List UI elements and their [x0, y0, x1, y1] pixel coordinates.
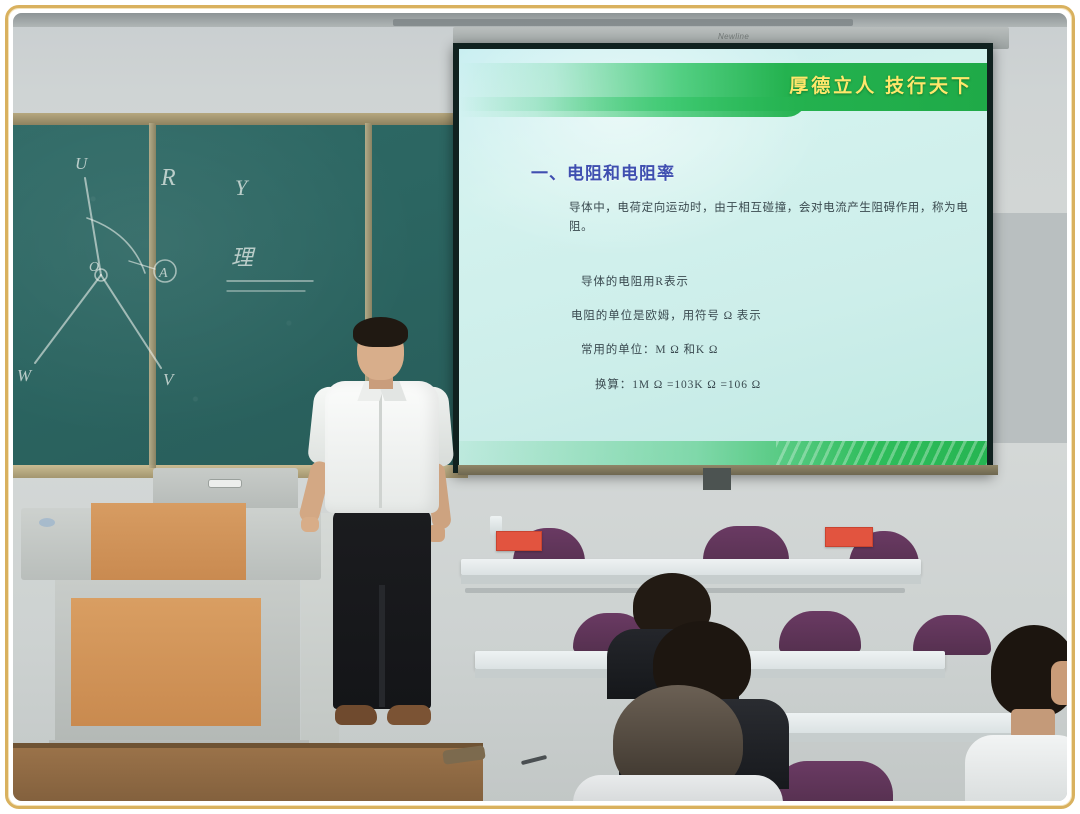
slide-bullet-3: 常用的单位：M Ω 和K Ω — [581, 341, 718, 357]
slide-footer-band — [459, 441, 987, 467]
chalk-label-y: Y — [235, 175, 250, 200]
projector-brand-label: Newline — [718, 32, 749, 41]
screen-stand — [703, 468, 731, 490]
teacher-left-hand — [301, 517, 319, 532]
podium-lower-wood-panel — [71, 598, 261, 726]
teacher-right-shoe — [387, 705, 431, 725]
slide-header-notch — [459, 97, 807, 117]
slide-bullet-2: 电阻的单位是欧姆，用符号 Ω 表示 — [571, 307, 762, 323]
slide-paragraph: 导体中，电荷定向运动时，由于相互碰撞，会对电流产生阻碍作用，称为电阻。 — [569, 199, 969, 237]
desk-row1 — [461, 559, 921, 575]
slide-footer-stripes — [776, 441, 987, 467]
chalk-label-circled-a: A — [158, 266, 168, 281]
chalk-label-chinese: 理 — [231, 245, 256, 270]
chalk-label-v: V — [163, 370, 176, 389]
classroom-photograph: U W V O R Y A 理 Newline 厚德立人 技行天下 — [13, 13, 1067, 801]
slide-bullet-1: 导体的电阻用R表示 — [581, 273, 689, 289]
projection-screen: 厚德立人 技行天下 一、电阻和电阻率 导体中，电荷定向运动时，由于相互碰撞，会对… — [453, 43, 993, 473]
podium-handle — [208, 479, 242, 488]
teacher-hair — [353, 317, 408, 347]
chalk-label-o: O — [89, 260, 99, 275]
chalk-label-r: R — [160, 165, 176, 191]
presentation-slide: 厚德立人 技行天下 一、电阻和电阻率 导体中，电荷定向运动时，由于相互碰撞，会对… — [459, 49, 987, 467]
podium-badge — [39, 518, 55, 527]
slide-bullet-4: 换算：1M Ω =103K Ω =106 Ω — [595, 376, 761, 392]
nameplate-right — [825, 527, 873, 547]
teacher-shirt — [325, 381, 439, 513]
photo-frame: U W V O R Y A 理 Newline 厚德立人 技行天下 — [0, 0, 1080, 814]
chair-row3 — [773, 761, 893, 801]
chalk-label-u: U — [75, 154, 89, 173]
nameplate-left — [496, 531, 542, 551]
stage-floor — [13, 748, 483, 801]
teacher-shirt-placket — [379, 393, 382, 508]
student-torso-4 — [965, 735, 1067, 801]
teacher-left-shoe — [335, 705, 377, 725]
slide-title: 一、电阻和电阻率 — [531, 159, 675, 184]
slide-slogan: 厚德立人 技行天下 — [789, 71, 973, 98]
podium-upper-wood-panel — [91, 503, 246, 581]
student-hand-4 — [1051, 661, 1067, 705]
teacher-leg-separation — [379, 585, 385, 707]
ceiling-rail — [393, 19, 853, 26]
student-torso-3 — [573, 775, 783, 801]
teacher-figure — [303, 313, 473, 753]
chalk-label-w: W — [17, 366, 33, 385]
